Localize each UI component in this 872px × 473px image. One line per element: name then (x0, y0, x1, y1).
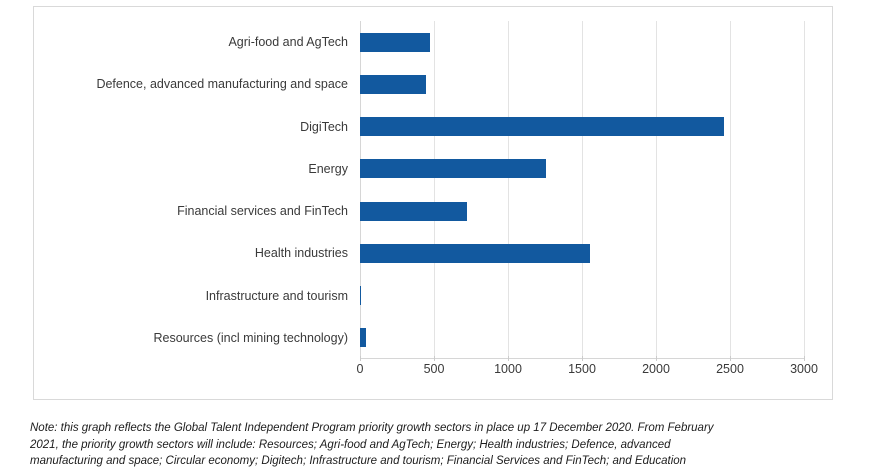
footnote-line: 2021, the priority growth sectors will i… (30, 437, 845, 454)
bar[interactable] (360, 33, 430, 52)
tick-mark-2000 (656, 356, 657, 361)
bar[interactable] (360, 244, 590, 263)
bar[interactable] (360, 117, 724, 136)
tick-mark-1500 (582, 356, 583, 361)
x-tick-label-2500: 2500 (716, 362, 744, 376)
bar[interactable] (360, 75, 426, 94)
tick-mark-0 (360, 356, 361, 361)
footnote-line: manufacturing and space; Circular econom… (30, 453, 845, 470)
category-label: Energy (308, 148, 348, 190)
category-label: Agri-food and AgTech (228, 21, 348, 63)
x-tick-label-3000: 3000 (790, 362, 818, 376)
bar-row[interactable] (360, 106, 804, 148)
chart-page: Agri-food and AgTechDefence, advanced ma… (0, 0, 872, 473)
category-label: Health industries (255, 232, 348, 274)
x-axis-tick-labels: 050010001500200025003000 (360, 362, 804, 384)
category-label: Resources (incl mining technology) (153, 317, 348, 359)
tick-mark-3000 (804, 356, 805, 361)
bar-row[interactable] (360, 190, 804, 232)
x-tick-label-2000: 2000 (642, 362, 670, 376)
tick-mark-1000 (508, 356, 509, 361)
bar[interactable] (360, 328, 366, 347)
bar[interactable] (360, 286, 361, 305)
category-label: Financial services and FinTech (177, 190, 348, 232)
bar-row[interactable] (360, 317, 804, 359)
x-tick-label-500: 500 (424, 362, 445, 376)
bar-row[interactable] (360, 63, 804, 105)
x-tick-label-1500: 1500 (568, 362, 596, 376)
bar-row[interactable] (360, 232, 804, 274)
category-axis-labels: Agri-food and AgTechDefence, advanced ma… (34, 21, 354, 359)
bar-row[interactable] (360, 21, 804, 63)
tick-mark-500 (434, 356, 435, 361)
x-tick-label-0: 0 (357, 362, 364, 376)
bar[interactable] (360, 202, 467, 221)
category-label: DigiTech (300, 106, 348, 148)
category-label: Defence, advanced manufacturing and spac… (96, 63, 348, 105)
bar-series (360, 21, 804, 359)
x-tick-label-1000: 1000 (494, 362, 522, 376)
footnote-line: Note: this graph reflects the Global Tal… (30, 420, 845, 437)
bar-row[interactable] (360, 275, 804, 317)
gridline-3000 (804, 21, 805, 359)
bar[interactable] (360, 159, 546, 178)
tick-mark-2500 (730, 356, 731, 361)
category-label: Infrastructure and tourism (206, 275, 348, 317)
chart-frame: Agri-food and AgTechDefence, advanced ma… (33, 6, 833, 400)
plot-area (360, 21, 804, 359)
chart-footnote: Note: this graph reflects the Global Tal… (30, 420, 845, 470)
bar-row[interactable] (360, 148, 804, 190)
